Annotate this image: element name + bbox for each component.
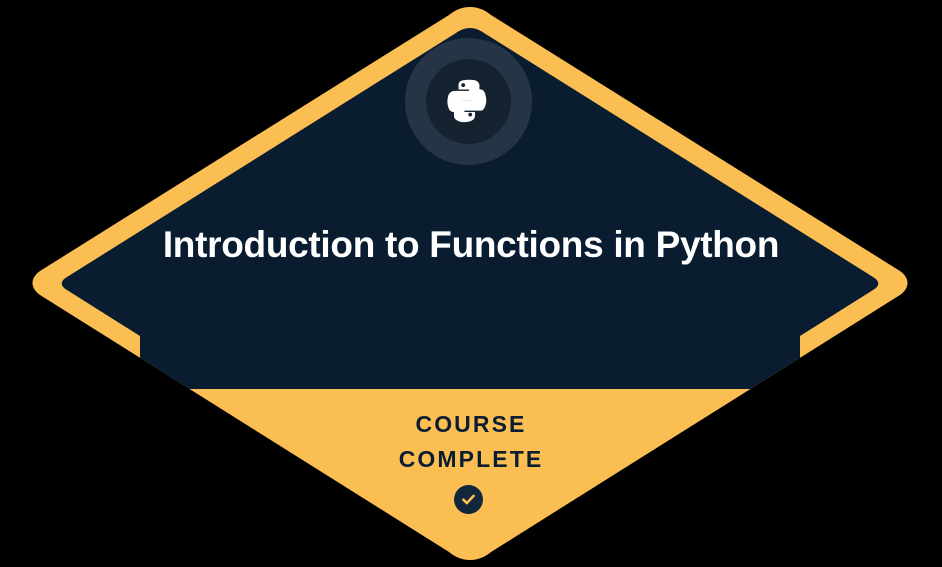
badge-diamond-shape (0, 0, 942, 567)
course-completion-badge: Introduction to Functions in Python COUR… (0, 0, 942, 567)
badge-inner-panel-group (62, 28, 879, 389)
badge-inner-panel (62, 28, 879, 389)
